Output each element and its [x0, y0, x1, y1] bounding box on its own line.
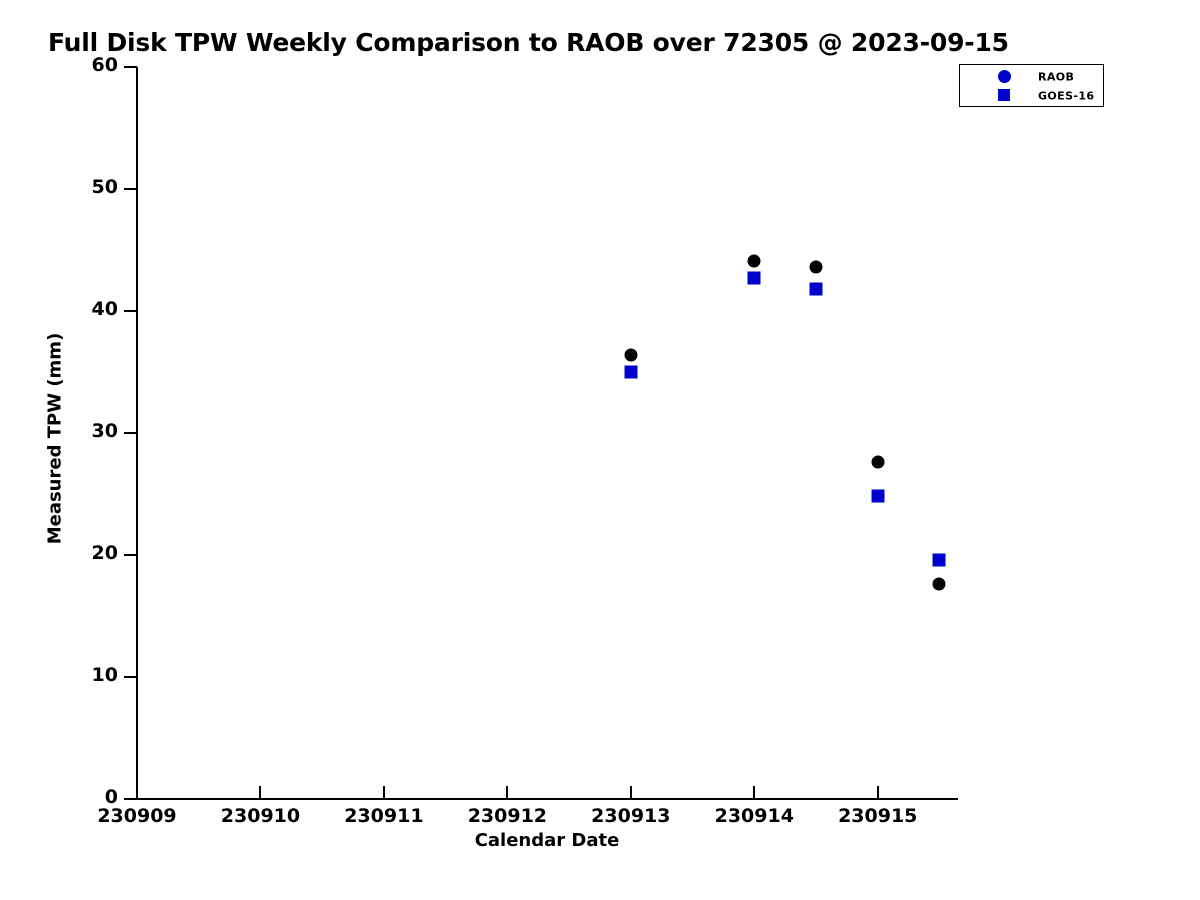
legend-label: RAOB	[1038, 71, 1074, 84]
data-point-raob	[871, 456, 884, 469]
data-point-raob	[810, 261, 823, 274]
y-axis-label: Measured TPW (mm)	[45, 189, 66, 689]
x-tick-mark	[259, 786, 261, 799]
x-tick-mark	[877, 786, 879, 799]
legend-item-raob[interactable]: RAOB	[960, 68, 1103, 86]
y-tick-mark	[124, 432, 137, 434]
data-point-raob	[933, 578, 946, 591]
y-tick-label: 60	[70, 54, 118, 76]
y-tick-label: 20	[70, 542, 118, 564]
x-tick-label: 230909	[97, 805, 176, 827]
x-tick-label: 230914	[715, 805, 794, 827]
x-tick-label: 230913	[591, 805, 670, 827]
y-tick-mark	[124, 798, 137, 800]
x-tick-label: 230915	[838, 805, 917, 827]
legend-marker-circle-icon	[998, 70, 1012, 84]
y-tick-mark	[124, 66, 137, 68]
x-tick-label: 230912	[468, 805, 547, 827]
legend-marker-square-icon	[998, 89, 1012, 103]
data-point-raob	[748, 254, 761, 267]
y-tick-label: 50	[70, 176, 118, 198]
legend-item-goes-16[interactable]: GOES-16	[960, 87, 1103, 105]
x-tick-mark	[383, 786, 385, 799]
data-point-goes-16	[871, 490, 884, 503]
chart-legend: RAOBGOES-16	[959, 64, 1104, 107]
x-tick-mark	[630, 786, 632, 799]
data-point-goes-16	[810, 283, 823, 296]
y-tick-mark	[124, 188, 137, 190]
x-tick-mark	[506, 786, 508, 799]
x-tick-mark	[753, 786, 755, 799]
y-tick-label: 40	[70, 298, 118, 320]
data-point-goes-16	[933, 553, 946, 566]
y-tick-mark	[124, 676, 137, 678]
legend-label: GOES-16	[1038, 90, 1095, 103]
x-tick-label: 230911	[344, 805, 423, 827]
legend-swatch	[998, 70, 1011, 83]
x-tick-label: 230910	[221, 805, 300, 827]
data-point-raob	[624, 348, 637, 361]
data-point-goes-16	[624, 366, 637, 379]
chart-title: Full Disk TPW Weekly Comparison to RAOB …	[48, 28, 1009, 57]
y-tick-mark	[124, 310, 137, 312]
y-tick-mark	[124, 554, 137, 556]
scatter-plot-figure: Full Disk TPW Weekly Comparison to RAOB …	[0, 0, 1200, 900]
x-axis-label: Calendar Date	[136, 830, 958, 851]
data-point-goes-16	[748, 272, 761, 285]
y-tick-label: 30	[70, 420, 118, 442]
y-tick-label: 10	[70, 664, 118, 686]
legend-swatch	[998, 89, 1010, 101]
